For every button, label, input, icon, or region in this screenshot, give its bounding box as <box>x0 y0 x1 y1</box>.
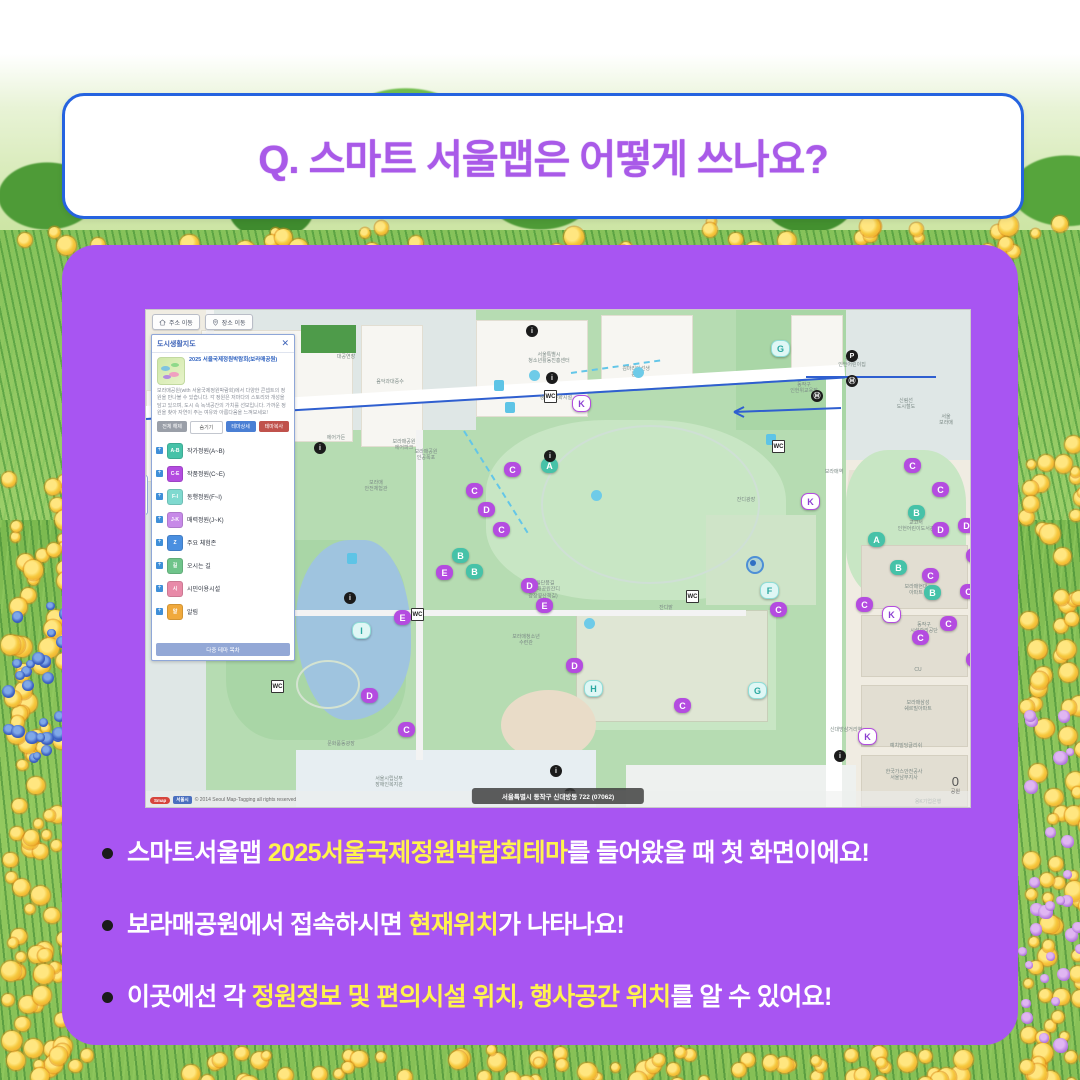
hide-button[interactable]: 숨기기 <box>190 421 222 434</box>
bus-icon[interactable] <box>494 380 504 391</box>
flower-yellow <box>360 228 370 238</box>
info-icon[interactable]: i <box>526 325 538 337</box>
map-marker-K[interactable]: K <box>858 728 877 745</box>
bullet-item-2: 이곳에선 각 정원정보 및 편의시설 위치, 행사공간 위치를 알 수 있어요! <box>102 981 988 1015</box>
flower-yellow <box>1031 672 1048 689</box>
flower-yellow <box>1072 591 1080 605</box>
flower-yellow <box>653 1054 665 1066</box>
flower-yellow <box>44 810 54 820</box>
map-marker-C[interactable]: C <box>932 482 949 497</box>
flower-yellow <box>38 949 51 962</box>
smart-seoul-map-screenshot[interactable]: 기상청국가기후센터세계기상정보센터대공연장에어가든동작구인헌어린이집서울특별시청… <box>145 309 971 808</box>
flower-purple <box>1046 952 1055 961</box>
flower-purple <box>1024 710 1036 722</box>
flower-yellow <box>24 560 44 580</box>
map-marker-K[interactable]: K <box>572 395 591 412</box>
zoom-indicator[interactable]: 0 공원 <box>951 775 960 795</box>
flower-yellow <box>13 879 30 896</box>
address-move-button[interactable]: 주소 이동 <box>152 314 200 330</box>
layer-label: 주요 체험존 <box>187 538 216 547</box>
map-marker-E[interactable]: E <box>436 565 453 580</box>
flower-yellow <box>1065 436 1080 453</box>
flower-purple <box>1045 901 1055 911</box>
flower-yellow <box>69 1060 81 1072</box>
map-marker-C[interactable]: C <box>960 584 971 599</box>
info-icon[interactable]: i <box>314 442 326 454</box>
map-label: 음악과대중수 <box>376 379 404 385</box>
flower-yellow <box>1071 467 1080 477</box>
map-building <box>791 315 843 372</box>
plain-text: 이곳에선 각 <box>127 983 252 1011</box>
expand-icon[interactable]: + <box>156 470 163 477</box>
flower-yellow <box>763 1055 779 1071</box>
layer-item-7[interactable]: +알알림 <box>156 600 290 623</box>
map-marker-B[interactable]: B <box>466 564 483 579</box>
plain-text: 를 알 수 있어요! <box>671 983 832 1011</box>
layer-label: 시민이용시설 <box>187 584 220 593</box>
highlight-text: 2025서울국제정원박람회테마 <box>268 839 568 867</box>
layer-label: 알림 <box>187 607 198 616</box>
flower-yellow <box>2 1031 21 1050</box>
theme-summary: 2025 서울국제정원박람회(보라매공원) <box>152 353 294 387</box>
map-marker-E[interactable]: E <box>394 610 411 625</box>
layer-list[interactable]: +A-B작가정원(A~B)+C-E작품정원(C~E)+F-I동행정원(F~I)+… <box>152 438 294 643</box>
map-marker-D[interactable]: D <box>958 518 971 533</box>
bullet-text: 보라매공원에서 접속하시면 현재위치가 나타나요! <box>127 909 624 943</box>
map-marker-C[interactable]: C <box>504 462 521 477</box>
flower-yellow <box>1059 727 1077 745</box>
flower-yellow <box>50 1047 67 1064</box>
flower-yellow <box>910 223 922 235</box>
info-icon[interactable]: i <box>344 592 356 604</box>
flower-yellow <box>860 217 880 237</box>
map-sports-field <box>576 610 768 722</box>
flower-purple <box>1072 922 1080 934</box>
flower-blue <box>32 652 45 665</box>
map-marker-B[interactable]: B <box>452 548 469 563</box>
place-move-label: 장소 이동 <box>222 318 246 327</box>
map-marker-D[interactable]: D <box>566 658 583 673</box>
map-toolbar[interactable]: 주소 이동 장소 이동 <box>152 314 253 330</box>
flower-purple <box>1053 751 1068 766</box>
flower-yellow <box>3 853 18 868</box>
location-pin-icon <box>212 319 219 326</box>
flower-purple <box>1030 923 1042 935</box>
flower-purple <box>1021 999 1030 1008</box>
plain-text: 를 들어왔을 때 첫 화면이에요! <box>567 839 869 867</box>
restroom-icon[interactable]: WC <box>544 390 557 403</box>
theme-copy-button[interactable]: 테마복사 <box>259 421 289 432</box>
map-marker-C[interactable]: C <box>398 722 415 737</box>
bus-icon[interactable] <box>505 402 515 413</box>
layer-icon: 시 <box>167 581 183 597</box>
flower-yellow <box>898 1052 918 1072</box>
map-label: 보라매삼성쉐르빌아파트 <box>904 700 932 713</box>
expand-icon[interactable]: + <box>156 447 163 454</box>
map-label: 보라매안전체험관 <box>364 480 387 493</box>
flower-yellow <box>1052 1011 1064 1023</box>
flower-yellow <box>1059 663 1078 682</box>
info-icon[interactable]: i <box>834 750 846 762</box>
restroom-icon[interactable]: WC <box>772 440 785 453</box>
map-marker-C[interactable]: C <box>466 483 483 498</box>
flower-purple <box>1056 896 1065 905</box>
layer-label: 매력정원(J~K) <box>187 515 224 524</box>
bullet-item-1: 보라매공원에서 접속하시면 현재위치가 나타나요! <box>102 909 988 943</box>
layer-icon: J-K <box>167 512 183 528</box>
layer-icon: F-I <box>167 489 183 505</box>
address-move-label: 주소 이동 <box>169 318 193 327</box>
highlight-text: 현재위치 <box>409 911 499 939</box>
map-road <box>826 370 842 808</box>
flower-purple <box>1018 947 1027 956</box>
flower-yellow <box>1072 787 1080 798</box>
flower-yellow <box>876 1058 887 1069</box>
page-title: Q. 스마트 서울맵은 어떻게 쓰나요? <box>258 127 828 185</box>
question-title-card: Q. 스마트 서울맵은 어떻게 쓰나요? <box>62 93 1024 219</box>
map-label: 잔디광장 <box>737 497 755 503</box>
flower-yellow <box>1020 612 1038 630</box>
flower-blue <box>12 611 23 622</box>
flower-purple <box>1021 1012 1033 1024</box>
bullet-dot <box>102 992 113 1003</box>
flower-yellow <box>342 1062 353 1073</box>
seoul-logo: 서울시 <box>173 796 191 804</box>
tree-icon[interactable] <box>584 618 595 629</box>
flower-yellow <box>262 1051 271 1060</box>
flower-yellow <box>47 543 61 557</box>
map-label: 에어가든 <box>327 435 345 441</box>
flower-yellow <box>1054 548 1071 565</box>
map-marker-C[interactable]: C <box>770 602 787 617</box>
layer-item-5[interactable]: +길오시는 길 <box>156 554 290 577</box>
layer-icon: A-B <box>167 443 183 459</box>
map-label: 보라매역 <box>825 469 843 475</box>
direction-arrow-icon <box>726 402 846 422</box>
flower-yellow <box>534 1058 543 1067</box>
map-label: 서울시립남부장애인복지관 <box>375 776 403 789</box>
map-marker-F[interactable]: F <box>760 582 779 599</box>
flower-yellow <box>24 1039 43 1058</box>
tree-icon[interactable] <box>591 490 602 501</box>
flower-yellow <box>2 994 14 1006</box>
flower-yellow <box>954 1050 973 1069</box>
flower-yellow <box>1065 806 1080 824</box>
expand-icon[interactable]: + <box>156 562 163 569</box>
flower-blue <box>42 672 54 684</box>
flower-yellow <box>855 1068 870 1080</box>
flower-yellow <box>1052 216 1068 232</box>
map-marker-G[interactable]: G <box>771 340 790 357</box>
map-label: 보라매청소년수련관 <box>512 634 540 647</box>
flower-blue <box>15 671 25 681</box>
flower-yellow <box>1026 889 1037 900</box>
theme-detail-button[interactable]: 테마상세 <box>226 421 256 432</box>
bullet-text: 이곳에선 각 정원정보 및 편의시설 위치, 행사공간 위치를 알 수 있어요! <box>127 981 832 1015</box>
map-marker-I[interactable]: I <box>352 622 371 639</box>
map-label: 잔디밭 <box>659 605 673 611</box>
flower-purple <box>1058 710 1070 722</box>
description-bullets: 스마트서울맵 2025서울국제정원박람회테마를 들어왔을 때 첫 화면이에요!보… <box>102 837 988 1052</box>
flower-yellow <box>1045 789 1062 806</box>
map-copyright: Smap 서울시 © 2014 Seoul Map-Tagging all ri… <box>150 796 296 804</box>
theme-title: 2025 서울국제정원박람회(보라매공원) <box>189 357 277 385</box>
layer-item-2[interactable]: +F-I동행정원(F~I) <box>156 485 290 508</box>
flower-yellow <box>44 908 60 924</box>
map-marker-D[interactable]: D <box>478 502 495 517</box>
current-location-dot <box>750 560 756 566</box>
map-marker-B[interactable]: B <box>890 560 907 575</box>
map-road <box>416 430 423 760</box>
flower-yellow <box>811 1071 823 1080</box>
flower-yellow <box>1021 1027 1037 1043</box>
flower-yellow <box>213 1053 227 1067</box>
bus-icon[interactable] <box>347 553 357 564</box>
plain-text: 스마트서울맵 <box>127 839 268 867</box>
flower-yellow <box>478 1071 491 1080</box>
layer-icon: C-E <box>167 466 183 482</box>
info-icon[interactable]: i <box>544 450 556 462</box>
flower-yellow <box>1028 640 1047 659</box>
map-building <box>861 545 968 609</box>
expand-icon[interactable]: + <box>156 516 163 523</box>
flower-yellow <box>1027 460 1036 469</box>
theme-action-buttons[interactable]: 전체 해제 숨기기 테마상세 테마복사 <box>152 417 294 438</box>
tree-icon[interactable] <box>529 370 540 381</box>
restroom-icon[interactable]: WC <box>686 590 699 603</box>
map-marker-C[interactable]: C <box>674 698 691 713</box>
map-subway-line <box>806 376 936 378</box>
expand-icon[interactable]: + <box>156 493 163 500</box>
map-label: 예치빌딩글리쉬 <box>890 743 922 749</box>
flower-yellow <box>25 904 35 914</box>
flower-yellow <box>518 1076 533 1080</box>
map-marker-B[interactable]: B <box>924 585 941 600</box>
flower-yellow <box>667 1063 680 1076</box>
highlight-text: 정원정보 및 편의시설 위치, 행사공간 위치 <box>252 983 671 1011</box>
flower-yellow <box>34 819 44 829</box>
deselect-all-button[interactable]: 전체 해제 <box>157 421 187 432</box>
flower-yellow <box>578 1063 596 1080</box>
flower-yellow <box>31 886 50 905</box>
zoom-level: 0 <box>951 775 960 788</box>
layer-item-6[interactable]: +시시민이용시설 <box>156 577 290 600</box>
flower-yellow <box>999 216 1018 235</box>
map-building <box>861 685 968 747</box>
map-marker-C[interactable]: C <box>940 616 957 631</box>
expand-icon[interactable]: + <box>156 539 163 546</box>
flower-yellow <box>11 521 22 532</box>
flower-yellow <box>49 227 59 237</box>
layer-icon: Z <box>167 535 183 551</box>
flower-yellow <box>312 1067 326 1080</box>
flower-purple <box>1063 870 1072 879</box>
flower-yellow <box>201 1075 214 1080</box>
map-marker-C[interactable]: C <box>904 458 921 473</box>
flower-blue <box>12 659 21 668</box>
flower-yellow <box>17 760 28 771</box>
map-roundabout <box>296 660 360 709</box>
place-move-button[interactable]: 장소 이동 <box>205 314 253 330</box>
flower-blue <box>36 733 45 742</box>
status-address: 서울특별시 동작구 신대방동 722 (07062) <box>472 788 644 804</box>
map-theme-panel[interactable]: 도시생활지도 ✕ 2025 서울국제정원박람회(보라매공원) 보라매공원(wit… <box>151 334 295 661</box>
panel-title: 도시생활지도 <box>157 339 196 349</box>
flower-yellow <box>1055 455 1072 472</box>
map-marker-C[interactable]: C <box>856 597 873 612</box>
flower-blue <box>11 725 25 739</box>
map-marker-E[interactable]: E <box>536 598 553 613</box>
layer-item-1[interactable]: +C-E작품정원(C~E) <box>156 462 290 485</box>
map-building <box>361 325 423 447</box>
layer-item-0[interactable]: +A-B작가정원(A~B) <box>156 439 290 462</box>
map-marker-D[interactable]: D <box>521 578 538 593</box>
flower-yellow <box>1070 966 1080 982</box>
multi-theme-toc-button[interactable]: 다중 테마 목차 <box>156 643 290 656</box>
flower-yellow <box>42 830 51 839</box>
layer-label: 작품정원(C~E) <box>187 469 225 478</box>
flower-yellow <box>629 1072 647 1080</box>
flower-purple <box>1045 827 1056 838</box>
panel-header: 도시생활지도 ✕ <box>152 335 294 353</box>
flower-yellow <box>34 964 53 983</box>
flower-yellow <box>398 1070 412 1080</box>
flower-yellow <box>18 233 32 247</box>
bullet-text: 스마트서울맵 2025서울국제정원박람회테마를 들어왔을 때 첫 화면이에요! <box>127 837 869 871</box>
map-marker-A[interactable]: A <box>868 532 885 547</box>
flower-yellow <box>1065 612 1079 626</box>
restroom-icon[interactable]: WC <box>411 608 424 621</box>
flower-yellow <box>505 1072 520 1080</box>
flower-yellow <box>11 532 20 541</box>
flower-blue <box>41 745 52 756</box>
flower-purple <box>1075 944 1080 954</box>
expand-icon[interactable]: + <box>156 585 163 592</box>
map-marker-B[interactable]: B <box>908 505 925 520</box>
expand-icon[interactable]: + <box>156 608 163 615</box>
bullet-dot <box>102 920 113 931</box>
map-marker-D[interactable]: D <box>932 522 949 537</box>
home-icon <box>159 319 166 326</box>
flower-yellow <box>45 479 61 495</box>
flower-yellow <box>1049 857 1064 872</box>
map-marker-K[interactable]: K <box>801 493 820 510</box>
flower-yellow <box>1040 873 1054 887</box>
flower-yellow <box>1038 455 1054 471</box>
flower-yellow <box>27 777 45 795</box>
map-label: 보라매공원에어파크 <box>392 439 415 452</box>
flower-yellow <box>1019 510 1034 525</box>
flower-yellow <box>1043 940 1054 951</box>
restroom-icon[interactable]: WC <box>271 680 284 693</box>
flower-yellow <box>1020 1060 1033 1073</box>
flower-blue <box>47 629 55 637</box>
subway-icon[interactable]: Ⓜ <box>811 390 823 402</box>
map-marker-C[interactable]: C <box>493 522 510 537</box>
flower-yellow <box>449 1051 467 1069</box>
flower-yellow <box>1075 742 1080 757</box>
flower-yellow <box>611 1063 620 1072</box>
map-marker-H[interactable]: H <box>584 680 603 697</box>
layer-label: 작가정원(A~B) <box>187 446 225 455</box>
layer-item-3[interactable]: +J-K매력정원(J~K) <box>156 508 290 531</box>
flower-yellow <box>1024 979 1033 988</box>
flower-yellow <box>182 1065 200 1080</box>
flower-yellow <box>1053 877 1065 889</box>
flower-yellow <box>2 472 16 486</box>
flower-yellow <box>1070 510 1080 522</box>
map-marker-C[interactable]: C <box>912 630 929 645</box>
flower-yellow <box>16 952 26 962</box>
map-label: 보라매공원인공폭포 <box>414 449 437 462</box>
flower-purple <box>1053 1038 1068 1053</box>
flower-yellow <box>556 1059 568 1071</box>
map-marker-C[interactable]: C <box>922 568 939 583</box>
info-icon[interactable]: i <box>546 372 558 384</box>
flower-yellow <box>1029 937 1039 947</box>
flower-yellow <box>1023 481 1039 497</box>
layer-icon: 알 <box>167 604 183 620</box>
copyright-text: © 2014 Seoul Map-Tagging all rights rese… <box>195 797 297 803</box>
subway-icon[interactable]: Ⓜ <box>846 375 858 387</box>
flower-purple <box>1029 877 1040 888</box>
close-icon[interactable]: ✕ <box>281 339 289 348</box>
map-label: 한국가스안전공사서울남부지사 <box>886 769 923 782</box>
parking-icon[interactable]: P <box>846 350 858 362</box>
map-marker-K[interactable]: K <box>882 606 901 623</box>
flower-yellow <box>8 938 18 948</box>
zoom-label: 공원 <box>951 788 960 795</box>
map-label: 서울보라매 <box>939 414 953 427</box>
flower-yellow <box>1057 640 1076 659</box>
flower-purple <box>1061 835 1074 848</box>
flower-yellow <box>874 1076 888 1080</box>
map-label: 교고서인헌어린이도서관 <box>898 520 935 533</box>
layer-item-4[interactable]: +Z주요 체험존 <box>156 531 290 554</box>
panel-collapse-toggle[interactable]: ❯ <box>145 475 148 515</box>
flower-yellow <box>732 1063 747 1078</box>
theme-description: 보라매공원(with 서울국제정원박람회)에서 다양한 콘셉트의 정원을 만나볼… <box>152 387 294 417</box>
map-label: 문화품동광장 <box>327 741 355 747</box>
flower-yellow <box>376 1052 386 1062</box>
flower-yellow <box>1023 496 1038 511</box>
flower-purple <box>1025 961 1033 969</box>
flower-yellow <box>51 840 62 851</box>
layer-label: 동행정원(F~I) <box>187 492 222 501</box>
flower-yellow <box>699 1076 709 1080</box>
info-icon[interactable]: i <box>550 765 562 777</box>
flower-yellow <box>33 986 51 1004</box>
smap-logo: Smap <box>150 797 170 804</box>
flower-yellow <box>57 236 76 255</box>
flower-yellow <box>1048 814 1058 824</box>
flower-yellow <box>24 830 39 845</box>
map-marker-D[interactable]: D <box>361 688 378 703</box>
flower-purple <box>1039 1033 1049 1043</box>
map-marker-G[interactable]: G <box>748 682 767 699</box>
map-label: CU <box>914 667 921 673</box>
flower-yellow <box>776 1057 793 1074</box>
flower-purple <box>1057 968 1070 981</box>
tree-icon[interactable] <box>633 367 644 378</box>
layer-icon: 길 <box>167 558 183 574</box>
flower-yellow <box>12 799 26 813</box>
flower-yellow <box>15 1017 30 1032</box>
map-label: 대공연장 <box>337 354 355 360</box>
flower-yellow <box>351 1051 367 1067</box>
map-label: 서울특별시청소년활동진흥센터 <box>528 352 569 365</box>
flower-blue <box>33 752 41 760</box>
